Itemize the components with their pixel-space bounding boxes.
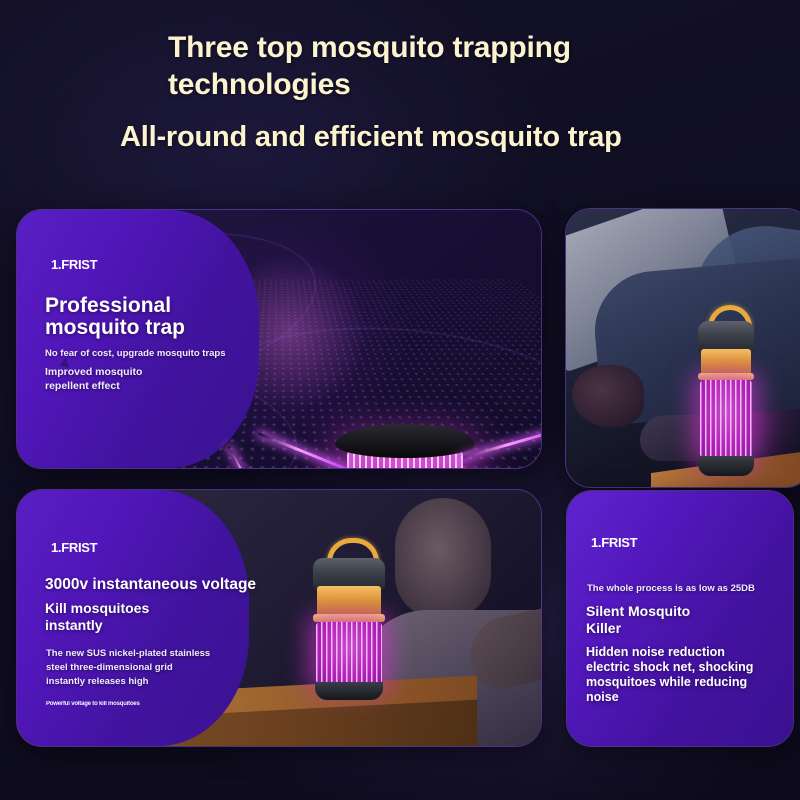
card-three-sub-line1: Kill mosquitoes (45, 600, 149, 618)
card-one-sub-line1: No fear of cost, upgrade mosquito traps (45, 348, 226, 360)
lantern-uv-grid (700, 380, 752, 458)
card-four-body-line3: mosquitoes while reducing (586, 675, 747, 691)
card-four-kicker: The whole process is as low as 25DB (587, 583, 755, 595)
lantern-gold-ring (698, 373, 754, 380)
card-four-body-line4: noise (586, 690, 619, 706)
card-three-sub-line2: instantly (45, 617, 103, 635)
card-three-footnote: Powerful voltage to kill mosquitoes (46, 701, 140, 707)
poster-headings: Three top mosquito trapping technologies… (0, 0, 800, 154)
lantern-gold-band (317, 586, 381, 616)
lantern-gold-band (701, 349, 751, 375)
card-one-sub-line3: repellent effect (45, 380, 120, 394)
card-one-tag: 1.FRIST (51, 257, 97, 272)
card-one-sub-line2: Improved mosquito (45, 366, 142, 380)
card-instantaneous-voltage[interactable]: 1.FRIST 3000v instantaneous voltage Kill… (16, 489, 542, 747)
card-bedroom-scene[interactable] (565, 208, 800, 488)
card-three-body-line1: The new SUS nickel-plated stainless (46, 648, 210, 660)
woman-head (395, 498, 491, 618)
lantern-base (698, 456, 754, 476)
product-lantern (307, 538, 391, 704)
page-subtitle: All-round and efficient mosquito trap (120, 121, 800, 154)
card-four-headline-line2: Killer (586, 620, 621, 638)
card-four-body-line2: electric shock net, shocking (586, 660, 753, 676)
card-one-text-panel: 1.FRIST Professional mosquito trap No fe… (17, 210, 259, 468)
card-four-body-line1: Hidden noise reduction (586, 645, 725, 661)
product-lantern (694, 305, 758, 481)
product-feature-poster: Three top mosquito trapping technologies… (0, 0, 800, 800)
card-professional-mosquito-trap[interactable]: 1.FRIST Professional mosquito trap No fe… (16, 209, 542, 469)
card-one-headline-line2: mosquito trap (45, 316, 185, 340)
photo-sleeping-person (566, 209, 800, 487)
card-one-headline-line1: Professional (45, 294, 171, 318)
card-four-tag: 1.FRIST (591, 535, 637, 550)
card-three-body-line2: steel three-dimensional grid (46, 662, 173, 674)
card-four-headline-line1: Silent Mosquito (586, 603, 690, 621)
card-three-body-line3: instantly releases high (46, 676, 148, 688)
lantern-gold-ring (313, 614, 385, 622)
lamp-cap (335, 424, 475, 458)
page-title: Three top mosquito trapping technologies (168, 30, 618, 103)
lantern-uv-grid (316, 622, 382, 684)
card-three-tag: 1.FRIST (51, 540, 97, 555)
card-three-headline: 3000v instantaneous voltage (45, 576, 256, 594)
card-silent-mosquito-killer[interactable]: 1.FRIST The whole process is as low as 2… (566, 490, 794, 747)
sleeping-person-head (572, 365, 644, 427)
lantern-base (315, 682, 383, 700)
